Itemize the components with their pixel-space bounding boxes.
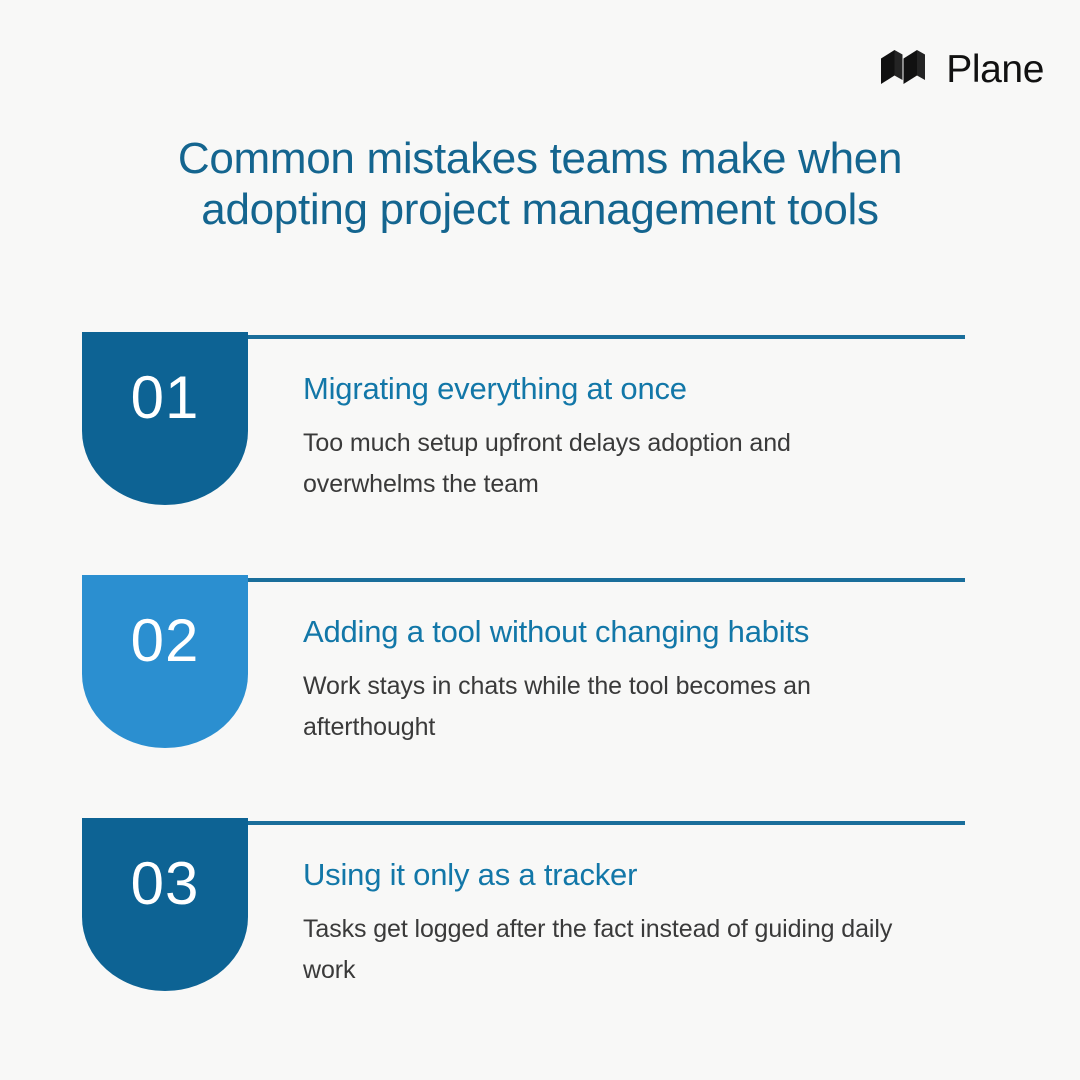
list-item: 02 Adding a tool without changing habits… [0,575,1080,818]
item-heading: Adding a tool without changing habits [303,613,983,650]
item-heading: Using it only as a tracker [303,856,983,893]
mistakes-list: 01 Migrating everything at once Too much… [0,332,1080,1061]
brand-logo: Plane [881,50,1044,89]
plane-logo-icon [881,50,933,89]
item-body: Too much setup upfront delays adoption a… [303,423,923,506]
item-number: 03 [131,854,200,914]
item-number: 02 [131,611,200,671]
item-body: Work stays in chats while the tool becom… [303,666,923,749]
item-divider [248,821,965,825]
list-item: 01 Migrating everything at once Too much… [0,332,1080,575]
item-number-badge: 03 [82,818,248,991]
item-number-badge: 02 [82,575,248,748]
item-heading: Migrating everything at once [303,370,983,407]
item-divider [248,578,965,582]
item-number-badge: 01 [82,332,248,505]
list-item: 03 Using it only as a tracker Tasks get … [0,818,1080,1061]
item-number: 01 [131,368,200,428]
item-body: Tasks get logged after the fact instead … [303,909,923,992]
item-copy: Adding a tool without changing habits Wo… [303,613,983,749]
page-title: Common mistakes teams make when adopting… [0,133,1080,235]
brand-name: Plane [946,50,1044,89]
item-divider [248,335,965,339]
item-copy: Migrating everything at once Too much se… [303,370,983,506]
item-copy: Using it only as a tracker Tasks get log… [303,856,983,992]
